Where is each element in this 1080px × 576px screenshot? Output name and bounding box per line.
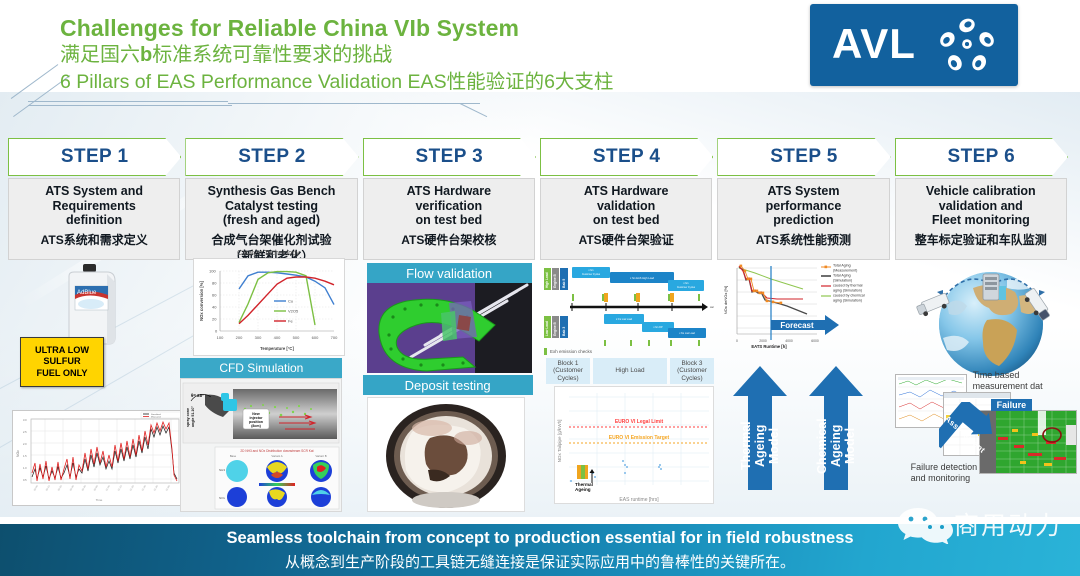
tailpipe-xlabel: EAS runtime [hrs]	[619, 497, 659, 503]
step-description-en-5: ATS System performance prediction	[721, 184, 885, 228]
svg-text:Base: Base	[230, 454, 237, 458]
catalyst-chart-svg: 1008060 40200 100200300 400500600 700 Te…	[194, 259, 344, 355]
svg-text:2.5: 2.5	[23, 430, 27, 434]
nox-trace-ylabel: NOx	[16, 450, 20, 457]
nox-trace-plot: NOx Time 3.02.52.0 1.51.00.5 00:00 00:10…	[12, 410, 186, 506]
step-chevron-4[interactable]: STEP 4	[540, 138, 713, 176]
svg-text:80: 80	[212, 281, 217, 286]
header-rule-bottom	[28, 101, 228, 102]
page-title: Challenges for Reliable China VIb System	[60, 14, 820, 42]
thermal-ageing-model-label: Thermal Ageing Model	[739, 404, 781, 488]
svg-text:x hrs DP: x hrs DP	[653, 326, 663, 329]
flow-validation-svg	[367, 283, 532, 373]
svg-text:NH3: NH3	[219, 468, 225, 472]
svg-text:3.0: 3.0	[23, 418, 27, 422]
svg-text:Customer Cycles: Customer Cycles	[677, 286, 696, 289]
cfd-simulation-svg: New injector position (8cm) θ= 28° spray…	[181, 379, 341, 511]
wechat-icon	[896, 504, 954, 544]
euro-emission-target-label: EURO VI Emission Target	[609, 435, 670, 441]
header-rule-bottom2	[28, 105, 232, 106]
svg-text:x hrs Low Load: x hrs Low Load	[679, 332, 695, 335]
content-column-3: Flow validation	[363, 262, 535, 514]
svg-text:Fe: Fe	[288, 318, 293, 323]
tailpipe-nox-svg: EURO VI Legal Limit EURO VI Emission Tar…	[555, 387, 715, 505]
svg-text:Engine B: Engine B	[553, 321, 557, 336]
flow-validation-header: Flow validation	[367, 263, 532, 283]
header-rule-top	[11, 64, 59, 99]
content-columns: AdBlue ULTRA LOW SULFUR FUEL ONLY	[8, 262, 1072, 514]
step-description-cn-5: ATS系统性能预测	[721, 232, 885, 248]
svg-text:01:50: 01:50	[165, 484, 171, 491]
svg-text:4000: 4000	[786, 339, 794, 343]
svg-text:200: 200	[236, 335, 243, 340]
svg-text:6000: 6000	[812, 339, 820, 343]
svg-text:700: 700	[331, 335, 338, 340]
svg-text:00:00: 00:00	[33, 484, 39, 491]
page-subtitle: 6 Pillars of EAS Performance Validation …	[60, 69, 820, 96]
title-cn-pre: 满足国六	[60, 44, 140, 66]
svg-text:x hrs EAS High Load: x hrs EAS High Load	[630, 276, 655, 280]
step-label-1: STEP 1	[61, 146, 129, 168]
euro-legal-limit-label: EURO VI Legal Limit	[615, 419, 664, 425]
svg-text:01:20: 01:20	[129, 484, 135, 491]
svg-text:400: 400	[274, 335, 281, 340]
svg-text:00:50: 00:50	[93, 484, 99, 491]
svg-text:Customer Cycles: Customer Cycles	[582, 273, 601, 276]
catalyst-conversion-chart: 1008060 40200 100200300 400500600 700 Te…	[193, 258, 345, 356]
steps-strip: STEP 1 STEP 2 STEP 3 STEP 4 STEP 5 STEP …	[8, 138, 1072, 176]
forecast-ylabel: NOx deNOx [%]	[723, 286, 728, 314]
forecast-legend: Total Aging (Measurement) Total Aging (S…	[821, 264, 865, 303]
svg-text:(8cm): (8cm)	[252, 424, 262, 428]
svg-text:60: 60	[212, 293, 217, 298]
aging-forecast-chart: Forecast 02000 40006000 EATS Runtime [h]…	[721, 262, 889, 358]
content-column-5: Forecast 02000 40006000 EATS Runtime [h]…	[717, 262, 889, 514]
step-description-cn-1: ATS系统和需求定义	[12, 232, 176, 248]
wechat-watermark: 商用动力	[896, 504, 1080, 548]
svg-text:(Measurement): (Measurement)	[833, 268, 857, 272]
nox-trace-xlabel: Time	[96, 498, 103, 502]
step-description-en-3: ATS Hardware verification on test bed	[367, 184, 531, 228]
step-label-4: STEP 4	[593, 146, 661, 168]
forecast-label: Forecast	[781, 321, 815, 330]
svg-text:01:40: 01:40	[153, 484, 159, 491]
step-chevron-6[interactable]: STEP 6	[895, 138, 1068, 176]
slide-header: Challenges for Reliable China VIb System…	[0, 0, 1080, 118]
tailpipe-nox-chart: EURO VI Legal Limit EURO VI Emission Tar…	[554, 386, 714, 504]
time-based-measurement-caption: Time based measurement dat	[973, 370, 1043, 392]
svg-text:Low Load: Low Load	[545, 321, 549, 336]
load-block-3: Block 3 (Customer Cycles)	[670, 358, 714, 384]
svg-text:Total Aging: Total Aging	[833, 274, 851, 278]
svg-text:V2O5: V2O5	[288, 308, 299, 313]
svg-text:1.5: 1.5	[23, 454, 27, 458]
timeline-legend-label: Exh emission checks	[550, 349, 592, 354]
step-chevron-3[interactable]: STEP 3	[363, 138, 536, 176]
step-label-5: STEP 5	[770, 146, 838, 168]
step-description-cn-4: ATS硬件台架验证	[544, 232, 708, 248]
catalyst-legend: Cu V2O5 Fe	[274, 298, 299, 323]
step-description-2: Synthesis Gas Bench Catalyst testing (fr…	[185, 178, 357, 260]
cfd-simulation-body: New injector position (8cm) θ= 28° spray…	[180, 378, 342, 512]
svg-text:angle 51.10°: angle 51.10°	[191, 406, 195, 427]
footer-text-cn: 从概念到生产阶段的工具链无缝连接是保证实际应用中的鲁棒性的关键所在。	[0, 551, 1080, 572]
timeline-right-label: ca/1000 km	[710, 305, 714, 309]
svg-text:300: 300	[255, 335, 262, 340]
step-label-3: STEP 3	[416, 146, 484, 168]
title-cn-b: b	[140, 44, 152, 66]
deposit-testing-header: Deposit testing	[363, 375, 533, 395]
avl-logo: AVL	[810, 4, 1018, 86]
page-title-chinese: 满足国六b标准系统可靠性要求的挑战	[60, 42, 820, 69]
svg-text:High Load: High Load	[545, 272, 549, 288]
svg-text:100: 100	[209, 269, 216, 274]
slide-root: Challenges for Reliable China VIb System…	[0, 0, 1080, 576]
chemical-ageing-model-label: Chemical Ageing Model	[815, 404, 857, 488]
svg-text:AdBlue: AdBlue	[77, 290, 97, 296]
svg-text:Cu: Cu	[288, 298, 293, 303]
title-cn-post: 标准系统可靠性要求的挑战	[152, 44, 392, 66]
timeline-legend: Exh emission checks	[544, 348, 592, 355]
content-column-6: Failure Assessment Time based measuremen…	[895, 262, 1067, 514]
tailpipe-ylabel: NOx Tailpipe [g/kWh]	[557, 420, 562, 463]
watermark-text: 商用动力	[954, 506, 1062, 542]
svg-text:01:00: 01:00	[105, 484, 111, 491]
avl-pinwheel-icon	[938, 17, 996, 73]
content-column-2: Catalyst Technology	[185, 262, 357, 514]
timeline-legend-swatch	[544, 348, 547, 355]
svg-text:00:20: 00:20	[57, 484, 63, 491]
step-description-3: ATS Hardware verification on test bed AT…	[363, 178, 535, 260]
load-block-2: High Load	[593, 358, 667, 384]
step-description-4: ATS Hardware validation on test bed ATS硬…	[540, 178, 712, 260]
step-description-cn-6: 整车标定验证和车队监测	[899, 232, 1063, 248]
step-chevron-2[interactable]: STEP 2	[185, 138, 358, 176]
step-description-1: ATS System and Requirements definition A…	[8, 178, 180, 260]
svg-text:0: 0	[215, 329, 218, 334]
step-label-2: STEP 2	[238, 146, 306, 168]
avl-wordmark: AVL	[832, 20, 916, 68]
svg-text:aging (Simulation): aging (Simulation)	[833, 288, 862, 292]
svg-text:2000: 2000	[760, 339, 768, 343]
svg-text:Variant A: Variant A	[272, 454, 283, 458]
svg-text:Bab 5: Bab 5	[562, 279, 566, 288]
svg-text:Measured: Measured	[151, 415, 162, 418]
svg-text:NOx: NOx	[219, 496, 226, 500]
svg-text:spray cone: spray cone	[186, 408, 190, 427]
step-description-6: Vehicle calibration validation and Fleet…	[895, 178, 1067, 260]
forecast-xlabel: EATS Runtime [h]	[752, 344, 788, 349]
catalyst-ylabel: NOx conversion [%]	[199, 281, 204, 321]
svg-text:1.0: 1.0	[23, 466, 27, 470]
svg-text:01:10: 01:10	[117, 484, 123, 491]
step-descriptions: ATS System and Requirements definition A…	[8, 178, 1072, 260]
step-description-en-6: Vehicle calibration validation and Fleet…	[899, 184, 1063, 228]
svg-text:00:40: 00:40	[81, 484, 87, 491]
ultra-low-sulfur-sign: ULTRA LOW SULFUR FUEL ONLY	[20, 337, 104, 387]
step-description-en-1: ATS System and Requirements definition	[12, 184, 176, 228]
svg-text:40: 40	[212, 305, 217, 310]
svg-text:Engine B: Engine B	[553, 273, 557, 288]
title-block: Challenges for Reliable China VIb System…	[60, 14, 820, 96]
svg-text:Total Aging: Total Aging	[833, 264, 851, 268]
svg-text:100: 100	[217, 335, 224, 340]
svg-text:Ageing: Ageing	[575, 487, 591, 492]
step-description-en-4: ATS Hardware validation on test bed	[544, 184, 708, 228]
header-rule-angle2	[460, 103, 487, 117]
load-block-1: Block 1 (Customer Cycles)	[546, 358, 590, 384]
svg-text:(Simulation): (Simulation)	[833, 278, 852, 282]
step-description-5: ATS System performance prediction ATS系统性…	[717, 178, 889, 260]
svg-text:00:10: 00:10	[45, 484, 51, 491]
svg-text:0: 0	[736, 339, 738, 343]
svg-text:00:30: 00:30	[69, 484, 75, 491]
step-chevron-1[interactable]: STEP 1	[8, 138, 181, 176]
cfd-simulation-header: CFD Simulation	[180, 358, 342, 378]
svg-text:x hrs: x hrs	[683, 282, 689, 285]
header-rule-angle	[228, 103, 480, 104]
svg-text:aging (Simulation): aging (Simulation)	[833, 298, 862, 302]
deposit-testing-image	[367, 397, 525, 512]
step-description-cn-3: ATS硬件台架校核	[367, 232, 531, 248]
svg-text:500: 500	[293, 335, 300, 340]
failure-detection-caption: Failure detection and monitoring	[911, 462, 978, 484]
step-label-6: STEP 6	[948, 146, 1016, 168]
svg-text:Variant B: Variant B	[316, 454, 327, 458]
fleet-monitoring-illustration	[903, 262, 1079, 382]
content-column-1: AdBlue ULTRA LOW SULFUR FUEL ONLY	[8, 262, 180, 514]
catalyst-chart-title: Catalyst Technology	[193, 250, 343, 257]
flow-validation-image	[367, 283, 532, 373]
svg-text:Bab 3: Bab 3	[562, 327, 566, 336]
svg-text:600: 600	[312, 335, 319, 340]
svg-text:01:30: 01:30	[141, 484, 147, 491]
nox-trace-svg: NOx Time 3.02.52.0 1.51.00.5 00:00 00:10…	[13, 411, 185, 505]
load-blocks-row: Block 1 (Customer Cycles) High Load Bloc…	[546, 358, 714, 384]
svg-text:x hrs Low Load: x hrs Low Load	[616, 318, 633, 321]
deposit-testing-svg	[368, 398, 524, 511]
svg-text:caused by thermal: caused by thermal	[833, 284, 863, 288]
svg-text:0.5: 0.5	[23, 478, 27, 482]
svg-text:x hrs: x hrs	[588, 269, 594, 272]
catalyst-xlabel: Temperature [°C]	[260, 346, 294, 351]
step-description-en-2: Synthesis Gas Bench Catalyst testing (fr…	[189, 184, 353, 228]
step-chevron-5[interactable]: STEP 5	[717, 138, 890, 176]
content-column-4: High Load Engine B Bab 5 x hrs Customer …	[540, 262, 712, 514]
svg-text:caused by chemical: caused by chemical	[833, 294, 865, 298]
svg-text:20: 20	[212, 317, 217, 322]
adblue-canister-icon: AdBlue	[63, 264, 121, 346]
test-schedule-timeline: High Load Engine B Bab 5 x hrs Customer …	[542, 262, 714, 350]
cfd-map-caption: 2D NH3 and NOx Distribution downstream S…	[241, 449, 314, 453]
svg-text:2.0: 2.0	[23, 442, 27, 446]
